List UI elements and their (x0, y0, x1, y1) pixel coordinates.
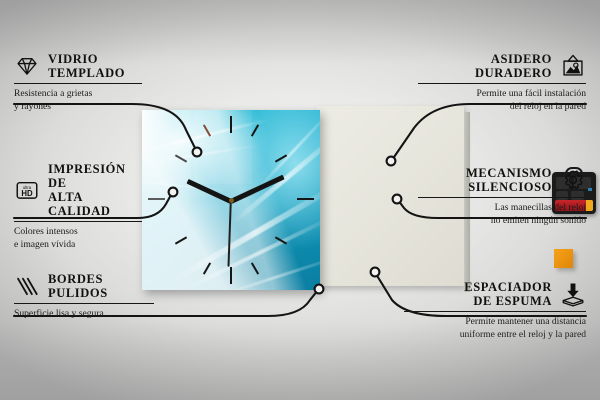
feature-description: Resistencia a grietas y rayones (14, 88, 142, 113)
clock-hub (229, 198, 234, 203)
tick-3 (297, 198, 314, 200)
tick-12 (230, 116, 232, 133)
foam-spacer-sample (554, 249, 573, 268)
feature-description: Las manecillas del reloj no emiten ningú… (418, 202, 586, 227)
feature-title-line1: BORDES (48, 272, 103, 286)
feature-title: MECANISMO SILENCIOSO (466, 166, 552, 194)
feature-title-line2: SILENCIOSO (468, 180, 552, 194)
feature-title-line1: MECANISMO (466, 166, 552, 180)
infographic-canvas: VIDRIO TEMPLADO Resistencia a grietas y … (0, 0, 600, 400)
feature-title: VIDRIO TEMPLADO (48, 52, 125, 80)
divider (14, 221, 142, 222)
feature-desc-line1: Superficie lisa y segura (14, 308, 104, 319)
diamond-icon (14, 53, 40, 79)
gear-icon (560, 167, 586, 193)
clock-front-view (142, 110, 320, 290)
feature-title-line2: DURADERO (475, 66, 552, 80)
feature-desc-line1: Permite mantener una distancia (465, 316, 586, 327)
feature-durable-hanger: ASIDERO DURADERO Permite una fácil insta… (418, 52, 586, 113)
mechanism-indicator (588, 188, 592, 191)
feature-title-line1: IMPRESIÓN DE (48, 162, 126, 190)
feature-title: BORDES PULIDOS (48, 272, 108, 300)
feature-title: ESPACIADOR DE ESPUMA (464, 280, 552, 308)
svg-text:HD: HD (21, 189, 33, 198)
feature-title-line2: PULIDOS (48, 286, 108, 300)
feature-title-line2: ALTA CALIDAD (48, 190, 111, 218)
tick-9 (148, 198, 165, 200)
feature-description: Permite una fácil instalación del reloj … (418, 88, 586, 113)
feature-desc-line1: Colores intensos (14, 226, 78, 237)
divider (418, 197, 586, 198)
feature-silent-mechanism: MECANISMO SILENCIOSO Las manecillas del … (418, 166, 586, 227)
divider (404, 311, 586, 312)
feature-high-quality-print: ultra HD IMPRESIÓN DE ALTA CALIDAD Color… (14, 162, 142, 251)
feature-tempered-glass: VIDRIO TEMPLADO Resistencia a grietas y … (14, 52, 142, 113)
divider (418, 83, 586, 84)
feature-description: Colores intensos e imagen vívida (14, 226, 142, 251)
feature-desc-line2: e imagen vívida (14, 239, 75, 250)
feature-title-line2: TEMPLADO (48, 66, 125, 80)
feature-description: Permite mantener una distancia uniforme … (404, 316, 586, 341)
feature-desc-line1: Permite una fácil instalación (477, 88, 587, 99)
feature-desc-line1: Resistencia a grietas (14, 88, 92, 99)
ultra-hd-badge-icon: ultra HD (14, 177, 40, 203)
hanging-picture-frame-icon (560, 53, 586, 79)
feature-desc-line1: Las manecillas del reloj (495, 202, 586, 213)
clock-face-artwork (142, 110, 320, 290)
divider (14, 83, 142, 84)
feature-title-line1: ASIDERO (491, 52, 552, 66)
feature-title-line1: ESPACIADOR (464, 280, 552, 294)
divider (14, 303, 154, 304)
feature-title-line1: VIDRIO (48, 52, 98, 66)
feature-polished-edges: BORDES PULIDOS Superficie lisa y segura (14, 272, 154, 321)
feature-title: IMPRESIÓN DE ALTA CALIDAD (48, 162, 142, 218)
feature-desc-line2: y rayones (14, 101, 51, 112)
tick-6 (230, 267, 232, 284)
feature-foam-spacer: ESPACIADOR DE ESPUMA Permite mantener un… (404, 280, 586, 341)
diagonal-lines-icon (14, 273, 40, 299)
feature-title-line2: DE ESPUMA (473, 294, 552, 308)
feature-desc-line2: no emiten ningún sonido (491, 215, 586, 226)
feature-description: Superficie lisa y segura (14, 308, 154, 320)
arrow-down-onto-pad-icon (560, 281, 586, 307)
feature-desc-line2: uniforme entre el reloj y la pared (460, 329, 586, 340)
feature-title: ASIDERO DURADERO (475, 52, 552, 80)
feature-desc-line2: del reloj en la pared (510, 101, 586, 112)
